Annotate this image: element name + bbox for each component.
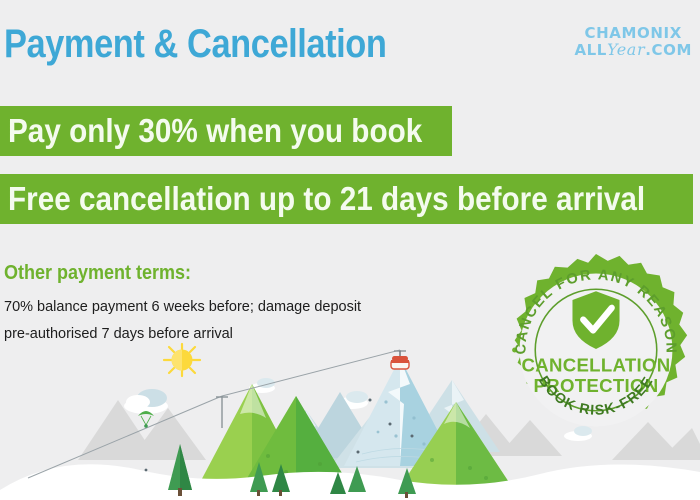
logo-year-text: Year [607, 40, 645, 59]
sun-icon [164, 344, 200, 376]
logo-line-2: ALLYear.COM [574, 42, 692, 59]
banner-pay-deposit: Pay only 30% when you book [0, 106, 452, 156]
banner-cancel-text: Free cancellation up to 21 days before a… [8, 180, 645, 218]
brand-logo[interactable]: CHAMONIX ALLYear.COM [574, 26, 692, 59]
terms-line-1: 70% balance payment 6 weeks before; dama… [4, 294, 444, 321]
cancellation-protection-badge: CANCEL FOR ANY REASON CANCELLATION PROTE… [498, 252, 694, 448]
badge-title-line-1: CANCELLATION [522, 355, 671, 376]
poster-root: Payment & Cancellation CHAMONIX ALLYear.… [0, 0, 700, 500]
logo-all-text: ALL [574, 41, 607, 59]
banner-pay-text: Pay only 30% when you book [8, 112, 422, 150]
other-terms-body: 70% balance payment 6 weeks before; dama… [4, 294, 444, 348]
banner-free-cancellation: Free cancellation up to 21 days before a… [0, 174, 693, 224]
other-terms-heading: Other payment terms: [4, 262, 191, 285]
terms-line-2: pre-authorised 7 days before arrival [4, 321, 444, 348]
logo-domain-text: .COM [645, 41, 692, 59]
page-title: Payment & Cancellation [4, 20, 386, 68]
